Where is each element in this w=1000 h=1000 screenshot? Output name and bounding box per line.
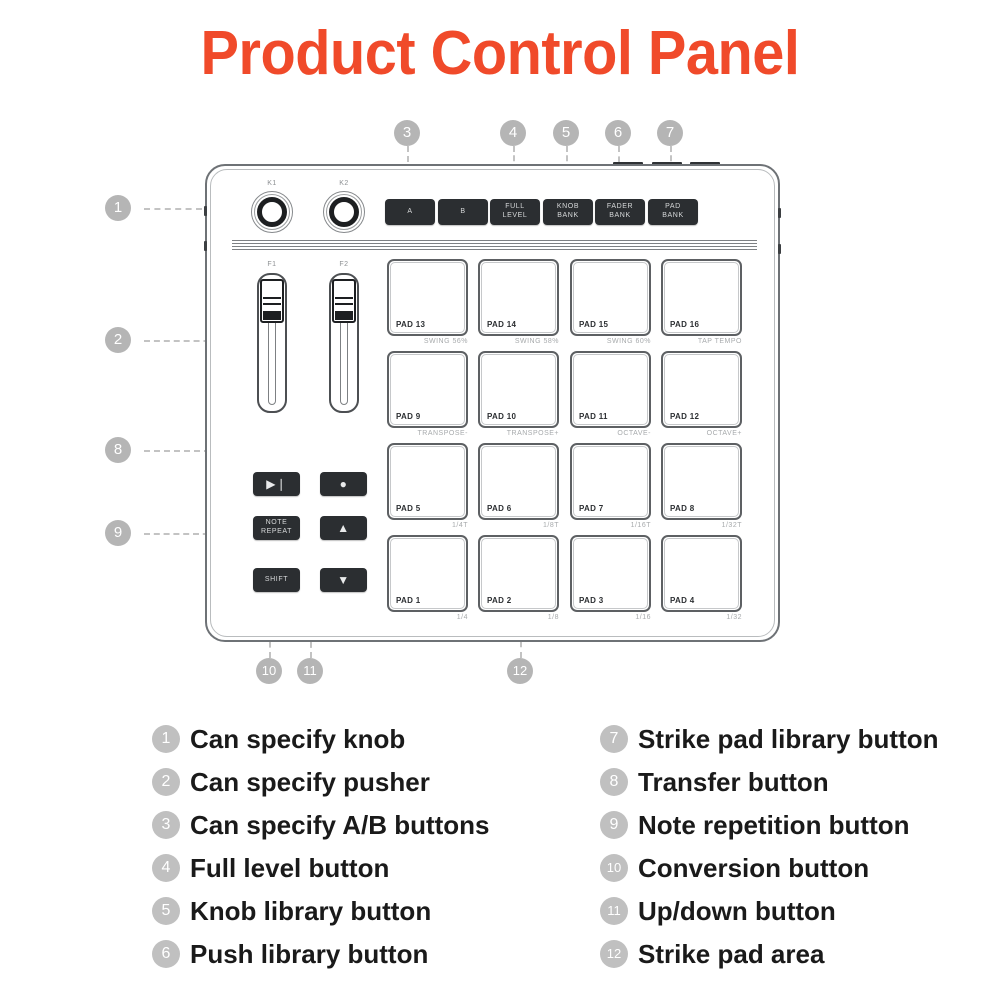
up-button[interactable]: ▲ (320, 516, 367, 540)
knob-k2[interactable] (323, 191, 365, 233)
fader-f2-thumb[interactable] (332, 279, 356, 323)
pad-5-label: PAD 5 (396, 504, 420, 513)
left-edge-nub-2 (204, 241, 207, 251)
legend-column-left: 1 Can specify knob 2 Can specify pusher … (152, 722, 582, 980)
legend-item-1: 1 Can specify knob (152, 722, 582, 765)
knob-label-k1: K1 (260, 180, 284, 187)
shift-button[interactable]: SHIFT (253, 568, 300, 592)
pad-14[interactable]: PAD 14 (478, 259, 559, 336)
legend-item-8: 8 Transfer button (600, 765, 1000, 808)
pad-11-label: PAD 11 (579, 412, 608, 421)
pad-4[interactable]: PAD 4 (661, 535, 742, 612)
callout-4: 4 (500, 120, 526, 146)
pad-6-label: PAD 6 (487, 504, 511, 513)
pad-13[interactable]: PAD 13 (387, 259, 468, 336)
legend-item-10: 10 Conversion button (600, 851, 1000, 894)
separator-rail-4 (232, 249, 757, 250)
legend-text-8: Transfer button (638, 765, 829, 799)
callout-12: 12 (507, 658, 533, 684)
fader-f1-thumb[interactable] (260, 279, 284, 323)
pad-11[interactable]: PAD 11 (570, 351, 651, 428)
pad-11-sub: OCTAVE- (570, 430, 651, 437)
legend-num-6: 6 (152, 940, 180, 968)
callout-6: 6 (605, 120, 631, 146)
pad-12-label: PAD 12 (670, 412, 699, 421)
fader-bank-label: FADER BANK (607, 203, 633, 221)
pad-10-sub: TRANSPOSE+ (478, 430, 559, 437)
fader-label-f2: F2 (332, 261, 356, 268)
knob-label-k2: K2 (332, 180, 356, 187)
legend-text-5: Knob library button (190, 894, 431, 928)
pad-2-label: PAD 2 (487, 596, 511, 605)
pad-3-label: PAD 3 (579, 596, 603, 605)
fader-f2[interactable] (329, 273, 359, 413)
pad-13-sub: SWING 56% (387, 338, 468, 345)
right-edge-nub-2 (778, 244, 781, 254)
callout-1: 1 (105, 195, 131, 221)
legend-column-right: 7 Strike pad library button 8 Transfer b… (600, 722, 1000, 980)
legend-num-2: 2 (152, 768, 180, 796)
note-repeat-label: NOTE REPEAT (261, 519, 292, 537)
play-pause-glyph: ▶❘ (266, 477, 286, 492)
shift-label: SHIFT (265, 576, 288, 585)
legend-num-1: 1 (152, 725, 180, 753)
legend-item-11: 11 Up/down button (600, 894, 1000, 937)
pad-16[interactable]: PAD 16 (661, 259, 742, 336)
pad-bank-button[interactable]: PAD BANK (648, 199, 698, 225)
callout-7: 7 (657, 120, 683, 146)
legend-num-8: 8 (600, 768, 628, 796)
fader-f1[interactable] (257, 273, 287, 413)
legend-num-4: 4 (152, 854, 180, 882)
right-edge-nub-1 (778, 208, 781, 218)
pad-4-sub: 1/32 (661, 614, 742, 621)
pad-9[interactable]: PAD 9 (387, 351, 468, 428)
legend-num-5: 5 (152, 897, 180, 925)
pad-10[interactable]: PAD 10 (478, 351, 559, 428)
legend-item-7: 7 Strike pad library button (600, 722, 1000, 765)
pad-7-label: PAD 7 (579, 504, 603, 513)
legend-text-10: Conversion button (638, 851, 869, 885)
pad-9-sub: TRANSPOSE- (387, 430, 468, 437)
left-edge-nub-1 (204, 206, 207, 216)
pad-15[interactable]: PAD 15 (570, 259, 651, 336)
legend-num-9: 9 (600, 811, 628, 839)
legend-num-12: 12 (600, 940, 628, 968)
pad-16-sub: TAP TEMPO (661, 338, 742, 345)
callout-2: 2 (105, 327, 131, 353)
controller-device: K1 K2 A B FULL LEVEL KNOB BANK FADER BAN… (205, 164, 780, 642)
pad-12-sub: OCTAVE+ (661, 430, 742, 437)
pad-8-sub: 1/32T (661, 522, 742, 529)
pad-10-label: PAD 10 (487, 412, 516, 421)
pad-2-sub: 1/8 (478, 614, 559, 621)
callout-10: 10 (256, 658, 282, 684)
pad-12[interactable]: PAD 12 (661, 351, 742, 428)
legend-text-4: Full level button (190, 851, 389, 885)
legend: 1 Can specify knob 2 Can specify pusher … (0, 722, 1000, 1000)
pad-6-sub: 1/8T (478, 522, 559, 529)
up-glyph: ▲ (337, 521, 349, 536)
note-repeat-button[interactable]: NOTE REPEAT (253, 516, 300, 540)
pad-4-label: PAD 4 (670, 596, 694, 605)
pad-8-label: PAD 8 (670, 504, 694, 513)
fader-f1-slot (268, 309, 276, 405)
callout-9: 9 (105, 520, 131, 546)
pad-14-sub: SWING 58% (478, 338, 559, 345)
legend-text-7: Strike pad library button (638, 722, 939, 756)
fader-label-f1: F1 (260, 261, 284, 268)
pad-15-label: PAD 15 (579, 320, 608, 329)
pad-13-label: PAD 13 (396, 320, 425, 329)
full-level-label: FULL LEVEL (503, 203, 528, 221)
down-button[interactable]: ▼ (320, 568, 367, 592)
legend-num-10: 10 (600, 854, 628, 882)
pad-9-label: PAD 9 (396, 412, 420, 421)
pad-1-label: PAD 1 (396, 596, 420, 605)
legend-item-2: 2 Can specify pusher (152, 765, 582, 808)
pad-7-sub: 1/16T (570, 522, 651, 529)
knob-k1[interactable] (251, 191, 293, 233)
button-a[interactable]: A (385, 199, 435, 225)
pad-15-sub: SWING 60% (570, 338, 651, 345)
legend-text-11: Up/down button (638, 894, 836, 928)
separator-rail-2 (232, 243, 757, 244)
separator-rail-3 (232, 246, 757, 247)
pad-bank-label: PAD BANK (662, 203, 683, 221)
full-level-button[interactable]: FULL LEVEL (490, 199, 540, 225)
legend-text-6: Push library button (190, 937, 428, 971)
pad-8[interactable]: PAD 8 (661, 443, 742, 520)
callout-8: 8 (105, 437, 131, 463)
legend-item-4: 4 Full level button (152, 851, 582, 894)
fader-f2-slot (340, 309, 348, 405)
pad-7[interactable]: PAD 7 (570, 443, 651, 520)
legend-item-9: 9 Note repetition button (600, 808, 1000, 851)
knob-bank-label: KNOB BANK (557, 203, 579, 221)
callout-3: 3 (394, 120, 420, 146)
legend-item-12: 12 Strike pad area (600, 937, 1000, 980)
legend-text-12: Strike pad area (638, 937, 824, 971)
separator-rail-1 (232, 240, 757, 241)
pad-16-label: PAD 16 (670, 320, 699, 329)
pad-5[interactable]: PAD 5 (387, 443, 468, 520)
pad-3[interactable]: PAD 3 (570, 535, 651, 612)
legend-num-11: 11 (600, 897, 628, 925)
pad-3-sub: 1/16 (570, 614, 651, 621)
legend-item-3: 3 Can specify A/B buttons (152, 808, 582, 851)
record-glyph: ● (340, 477, 348, 492)
pad-1[interactable]: PAD 1 (387, 535, 468, 612)
page-title: Product Control Panel (35, 18, 965, 89)
fader-bank-button[interactable]: FADER BANK (595, 199, 645, 225)
legend-text-2: Can specify pusher (190, 765, 430, 799)
callout-11: 11 (297, 658, 323, 684)
button-a-label: A (407, 208, 412, 217)
pad-2[interactable]: PAD 2 (478, 535, 559, 612)
legend-item-5: 5 Knob library button (152, 894, 582, 937)
legend-num-3: 3 (152, 811, 180, 839)
button-b-label: B (460, 208, 465, 217)
legend-text-9: Note repetition button (638, 808, 910, 842)
down-glyph: ▼ (337, 573, 349, 588)
legend-item-6: 6 Push library button (152, 937, 582, 980)
button-b[interactable]: B (438, 199, 488, 225)
knob-bank-button[interactable]: KNOB BANK (543, 199, 593, 225)
pad-14-label: PAD 14 (487, 320, 516, 329)
pad-5-sub: 1/4T (387, 522, 468, 529)
legend-text-3: Can specify A/B buttons (190, 808, 490, 842)
play-pause-button[interactable]: ▶❘ (253, 472, 300, 496)
legend-num-7: 7 (600, 725, 628, 753)
callout-5: 5 (553, 120, 579, 146)
pad-6[interactable]: PAD 6 (478, 443, 559, 520)
pad-1-sub: 1/4 (387, 614, 468, 621)
record-button[interactable]: ● (320, 472, 367, 496)
legend-text-1: Can specify knob (190, 722, 405, 756)
